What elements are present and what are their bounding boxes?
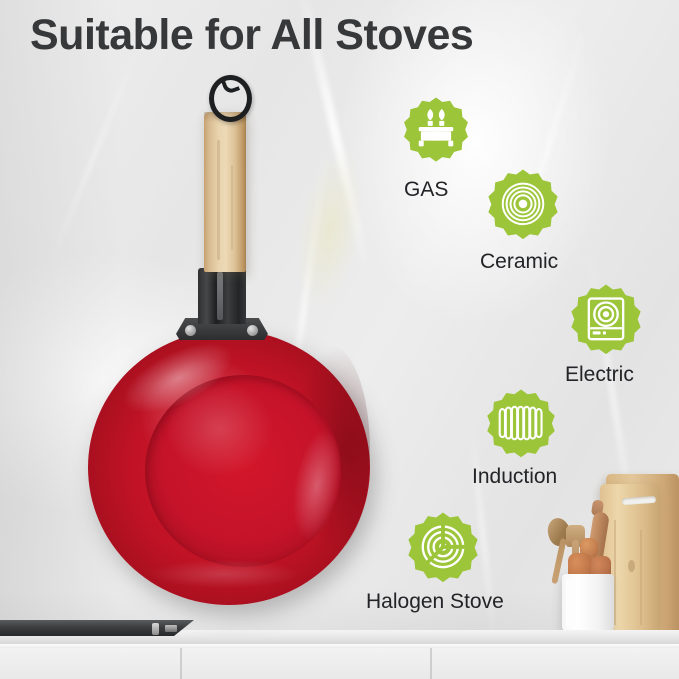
handle-grain bbox=[217, 140, 220, 260]
product-feature-image: Suitable for All Stoves bbox=[0, 0, 679, 679]
badge-induction[interactable] bbox=[483, 388, 559, 464]
badge-gas[interactable] bbox=[400, 96, 472, 168]
badge-ceramic[interactable] bbox=[484, 168, 562, 246]
wooden-handle bbox=[204, 112, 246, 272]
badge-label-ceramic: Ceramic bbox=[480, 250, 558, 274]
ceramic-rings-icon bbox=[484, 168, 562, 246]
badge-label-halogen: Halogen Stove bbox=[366, 590, 504, 614]
bracket-rivet bbox=[185, 325, 196, 336]
halogen-target-icon bbox=[404, 511, 482, 589]
pan-highlight bbox=[150, 560, 300, 588]
induction-coil-icon bbox=[483, 388, 559, 464]
badge-label-electric: Electric bbox=[565, 363, 634, 387]
electric-cooktop-icon bbox=[567, 283, 645, 361]
badge-electric[interactable] bbox=[567, 283, 645, 361]
badge-label-gas: GAS bbox=[404, 178, 448, 202]
gas-burner-icon bbox=[400, 96, 472, 168]
badge-halogen[interactable] bbox=[404, 511, 482, 589]
handle-grain bbox=[231, 165, 233, 250]
badge-label-induction: Induction bbox=[472, 465, 557, 489]
handle-bracket-slot bbox=[217, 272, 223, 320]
bracket-rivet bbox=[247, 325, 258, 336]
